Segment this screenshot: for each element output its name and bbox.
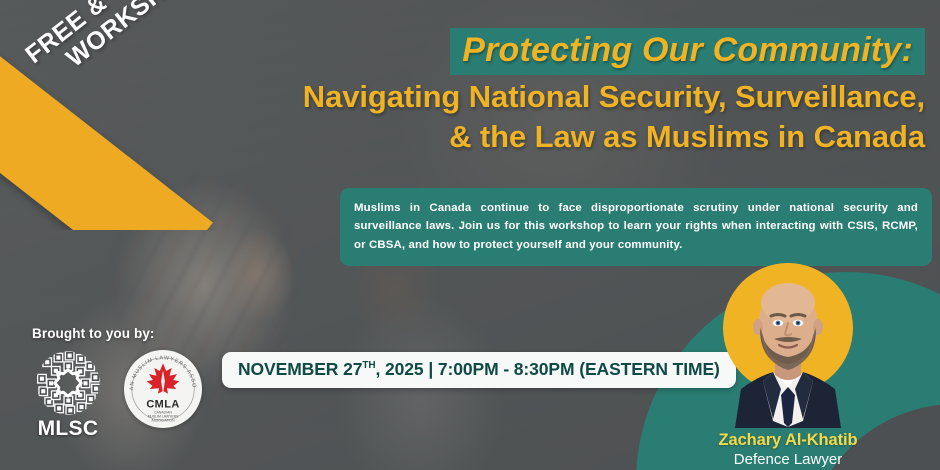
title-line-2: Navigating National Security, Surveillan…	[180, 77, 925, 117]
speaker-headshot-image	[717, 269, 859, 428]
svg-text:CMLA: CMLA	[146, 399, 179, 411]
sponsors-label: Brought to you by:	[32, 326, 204, 341]
date-month-day: NOVEMBER 27	[238, 359, 362, 379]
sponsor-logo-row: MLSC CANADIAN MUSLI	[32, 350, 204, 441]
date-ordinal-suffix: TH	[362, 360, 375, 371]
cmla-maple-leaf-logo-icon: CANADIAN MUSLIM LAWYERS ASSOCIATION CMLA…	[124, 350, 202, 428]
title-highlight-row: Protecting Our Community:	[180, 28, 925, 75]
speaker-card: Zachary Al-Khatib Defence Lawyer	[688, 263, 888, 468]
date-time-banner: NOVEMBER 27TH, 2025 | 7:00PM - 8:30PM (E…	[222, 352, 736, 388]
date-time-rest: , 2025 | 7:00PM - 8:30PM (EASTERN TIME)	[376, 359, 720, 379]
title-line-3: & the Law as Muslims in Canada	[180, 117, 925, 157]
event-poster: FREE & VIRTUAL WORKSHOP Protecting Our C…	[0, 0, 940, 470]
svg-text:ASSOCIATION: ASSOCIATION	[151, 418, 175, 422]
mlsc-wordmark: MLSC	[32, 417, 104, 441]
speaker-role: Defence Lawyer	[688, 451, 888, 468]
mlsc-geometric-logo-icon	[35, 350, 101, 416]
title-highlight: Protecting Our Community:	[450, 28, 925, 75]
sponsors-section: Brought to you by:	[32, 326, 204, 441]
speaker-name: Zachary Al-Khatib	[688, 431, 888, 450]
speaker-photo-wrap	[717, 263, 859, 428]
page-title: Protecting Our Community: Navigating Nat…	[180, 28, 925, 158]
description-box: Muslims in Canada continue to face dispr…	[340, 188, 932, 266]
sponsor-mlsc: MLSC	[32, 350, 104, 441]
sponsor-cmla: CANADIAN MUSLIM LAWYERS ASSOCIATION CMLA…	[124, 350, 204, 428]
